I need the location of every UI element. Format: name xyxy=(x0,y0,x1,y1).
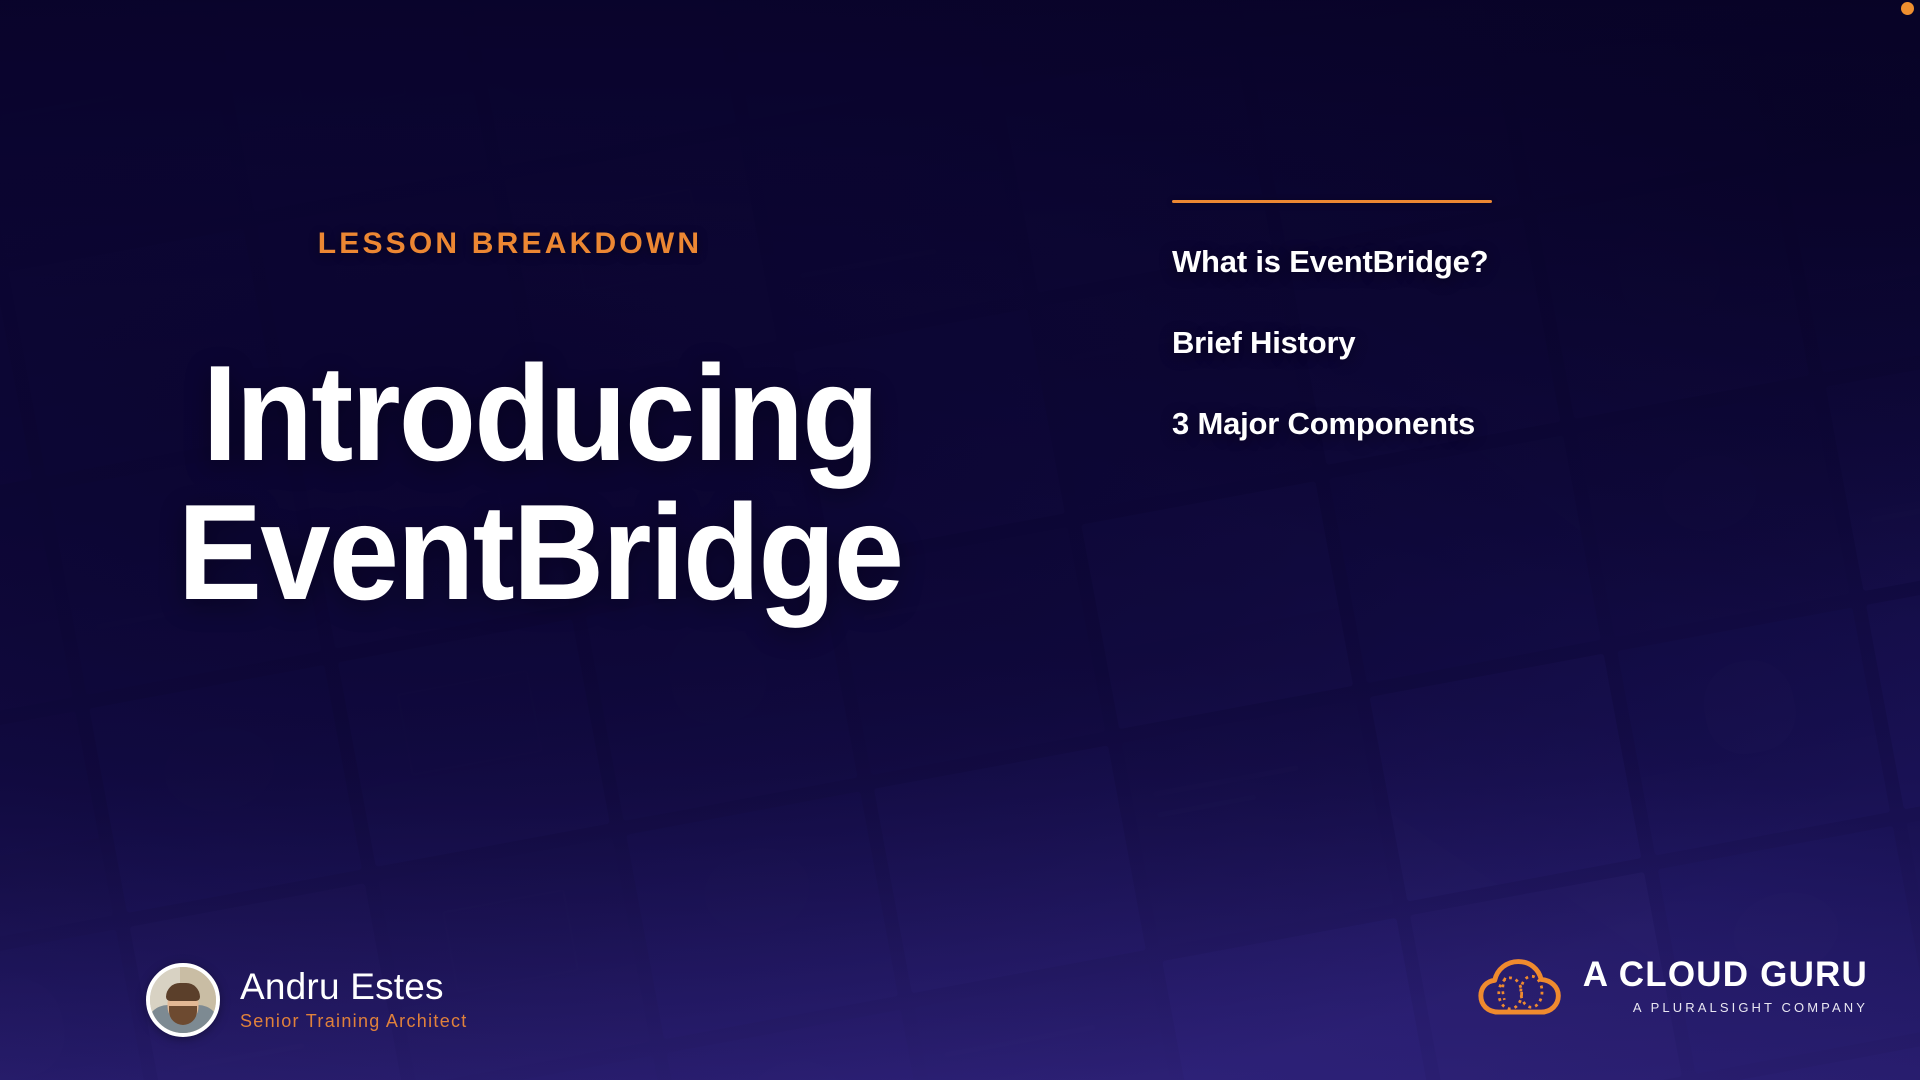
list-item: 3 Major Components xyxy=(1172,406,1642,442)
cloud-guru-logo-icon xyxy=(1477,955,1563,1017)
brand-text-block: A CLOUD GURU A PLURALSIGHT COMPANY xyxy=(1583,957,1868,1015)
presenter-credit: Andru Estes Senior Training Architect xyxy=(146,963,468,1037)
page-title-line-1: Introducing xyxy=(38,344,1042,483)
brand-name: A CLOUD GURU xyxy=(1583,957,1868,992)
page-title: Introducing EventBridge xyxy=(38,344,1042,621)
slide-content: LESSON BREAKDOWN Introducing EventBridge… xyxy=(0,0,1920,1080)
list-item: What is EventBridge? xyxy=(1172,244,1642,280)
presenter-name: Andru Estes xyxy=(240,968,468,1007)
corner-indicator-dot xyxy=(1901,2,1914,15)
list-item: Brief History xyxy=(1172,325,1642,361)
presenter-role: Senior Training Architect xyxy=(240,1011,468,1032)
brand-logo: A CLOUD GURU A PLURALSIGHT COMPANY xyxy=(1477,955,1868,1017)
page-title-line-2: EventBridge xyxy=(38,483,1042,622)
avatar xyxy=(146,963,220,1037)
list-accent-rule xyxy=(1172,200,1492,203)
lesson-breakdown-eyebrow: LESSON BREAKDOWN xyxy=(0,227,1020,261)
presentation-slide: LESSON BREAKDOWN Introducing EventBridge… xyxy=(0,0,1920,1080)
brand-tagline: A PLURALSIGHT COMPANY xyxy=(1583,1000,1868,1015)
lesson-breakdown-list: What is EventBridge? Brief History 3 Maj… xyxy=(1172,200,1642,442)
presenter-text-block: Andru Estes Senior Training Architect xyxy=(240,968,468,1033)
